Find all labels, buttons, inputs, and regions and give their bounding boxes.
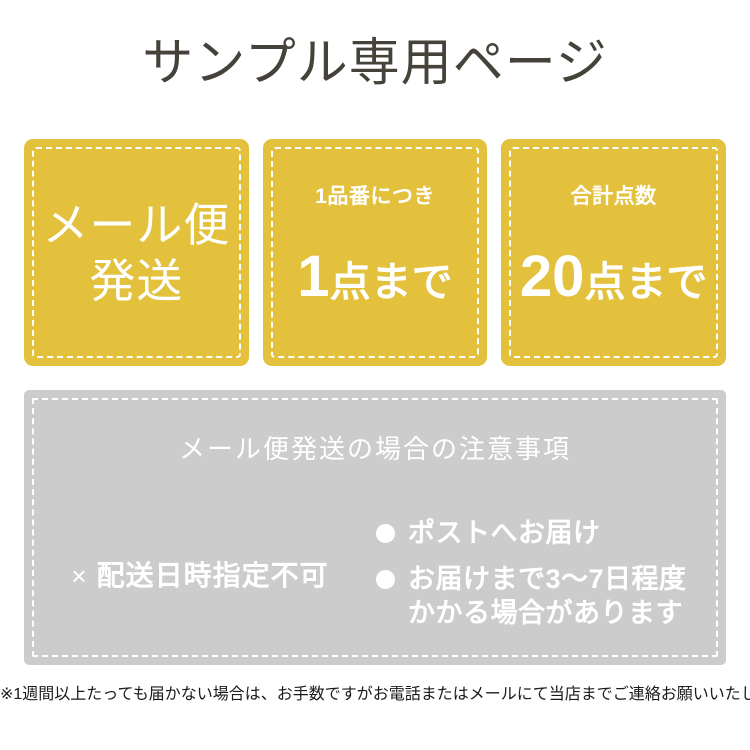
- bullet-text-delivery-time: お届けまで3〜7日程度 かかる場合があります: [408, 562, 687, 630]
- list-item: ポストへお届け: [376, 516, 712, 550]
- per-item-limit-caption: 1品番につき: [263, 184, 488, 210]
- per-item-limit-unit: 点まで: [330, 259, 453, 305]
- feature-box-per-item-limit: 1品番につき 1点まで: [263, 139, 488, 366]
- feature-box-content: メール便 発送: [24, 197, 249, 309]
- notice-heading: メール便発送の場合の注意事項: [24, 433, 726, 465]
- feature-box-content: 合計点数 20点まで: [501, 184, 726, 321]
- total-limit-caption: 合計点数: [501, 184, 726, 210]
- bullet-dot-icon: [376, 570, 395, 589]
- cross-mark-icon: ×: [71, 561, 86, 591]
- bullet-text-delivery-location: ポストへお届け: [408, 516, 601, 550]
- per-item-limit-number: 1: [297, 244, 329, 309]
- feature-box-shipping-method: メール便 発送: [24, 139, 249, 366]
- feature-box-row: メール便 発送 1品番につき 1点まで 合計点数 20点まで: [24, 139, 726, 366]
- sample-page-banner: サンプル専用ページ メール便 発送 1品番につき 1点まで 合計点数: [0, 0, 750, 750]
- notice-body: ×配送日時指定不可 ポストへお届け お届けまで3〜7日程度 かかる場合があります: [24, 498, 726, 648]
- no-date-designation-item: ×配送日時指定不可: [24, 552, 376, 594]
- per-item-limit-value: 1点まで: [263, 248, 488, 321]
- footer-note: ※1週間以上たっても届かない場合は、お手数ですがお電話またはメールにて当店までご…: [0, 683, 750, 707]
- bullet-dot-icon: [376, 524, 395, 543]
- page-title: サンプル専用ページ: [0, 33, 750, 93]
- total-limit-unit: 点まで: [584, 259, 707, 305]
- no-date-designation-label: 配送日時指定不可: [97, 560, 329, 591]
- total-limit-number: 20: [520, 244, 585, 309]
- total-limit-value: 20点まで: [501, 248, 726, 321]
- shipping-method-line-1: メール便: [24, 197, 249, 253]
- notice-panel: メール便発送の場合の注意事項 ×配送日時指定不可 ポストへお届け お届けまで3〜…: [24, 390, 726, 665]
- shipping-method-line-2: 発送: [24, 253, 249, 309]
- list-item: お届けまで3〜7日程度 かかる場合があります: [376, 562, 712, 630]
- notice-bullet-list: ポストへお届け お届けまで3〜7日程度 かかる場合があります: [376, 516, 726, 630]
- feature-box-content: 1品番につき 1点まで: [263, 184, 488, 321]
- feature-box-total-limit: 合計点数 20点まで: [501, 139, 726, 366]
